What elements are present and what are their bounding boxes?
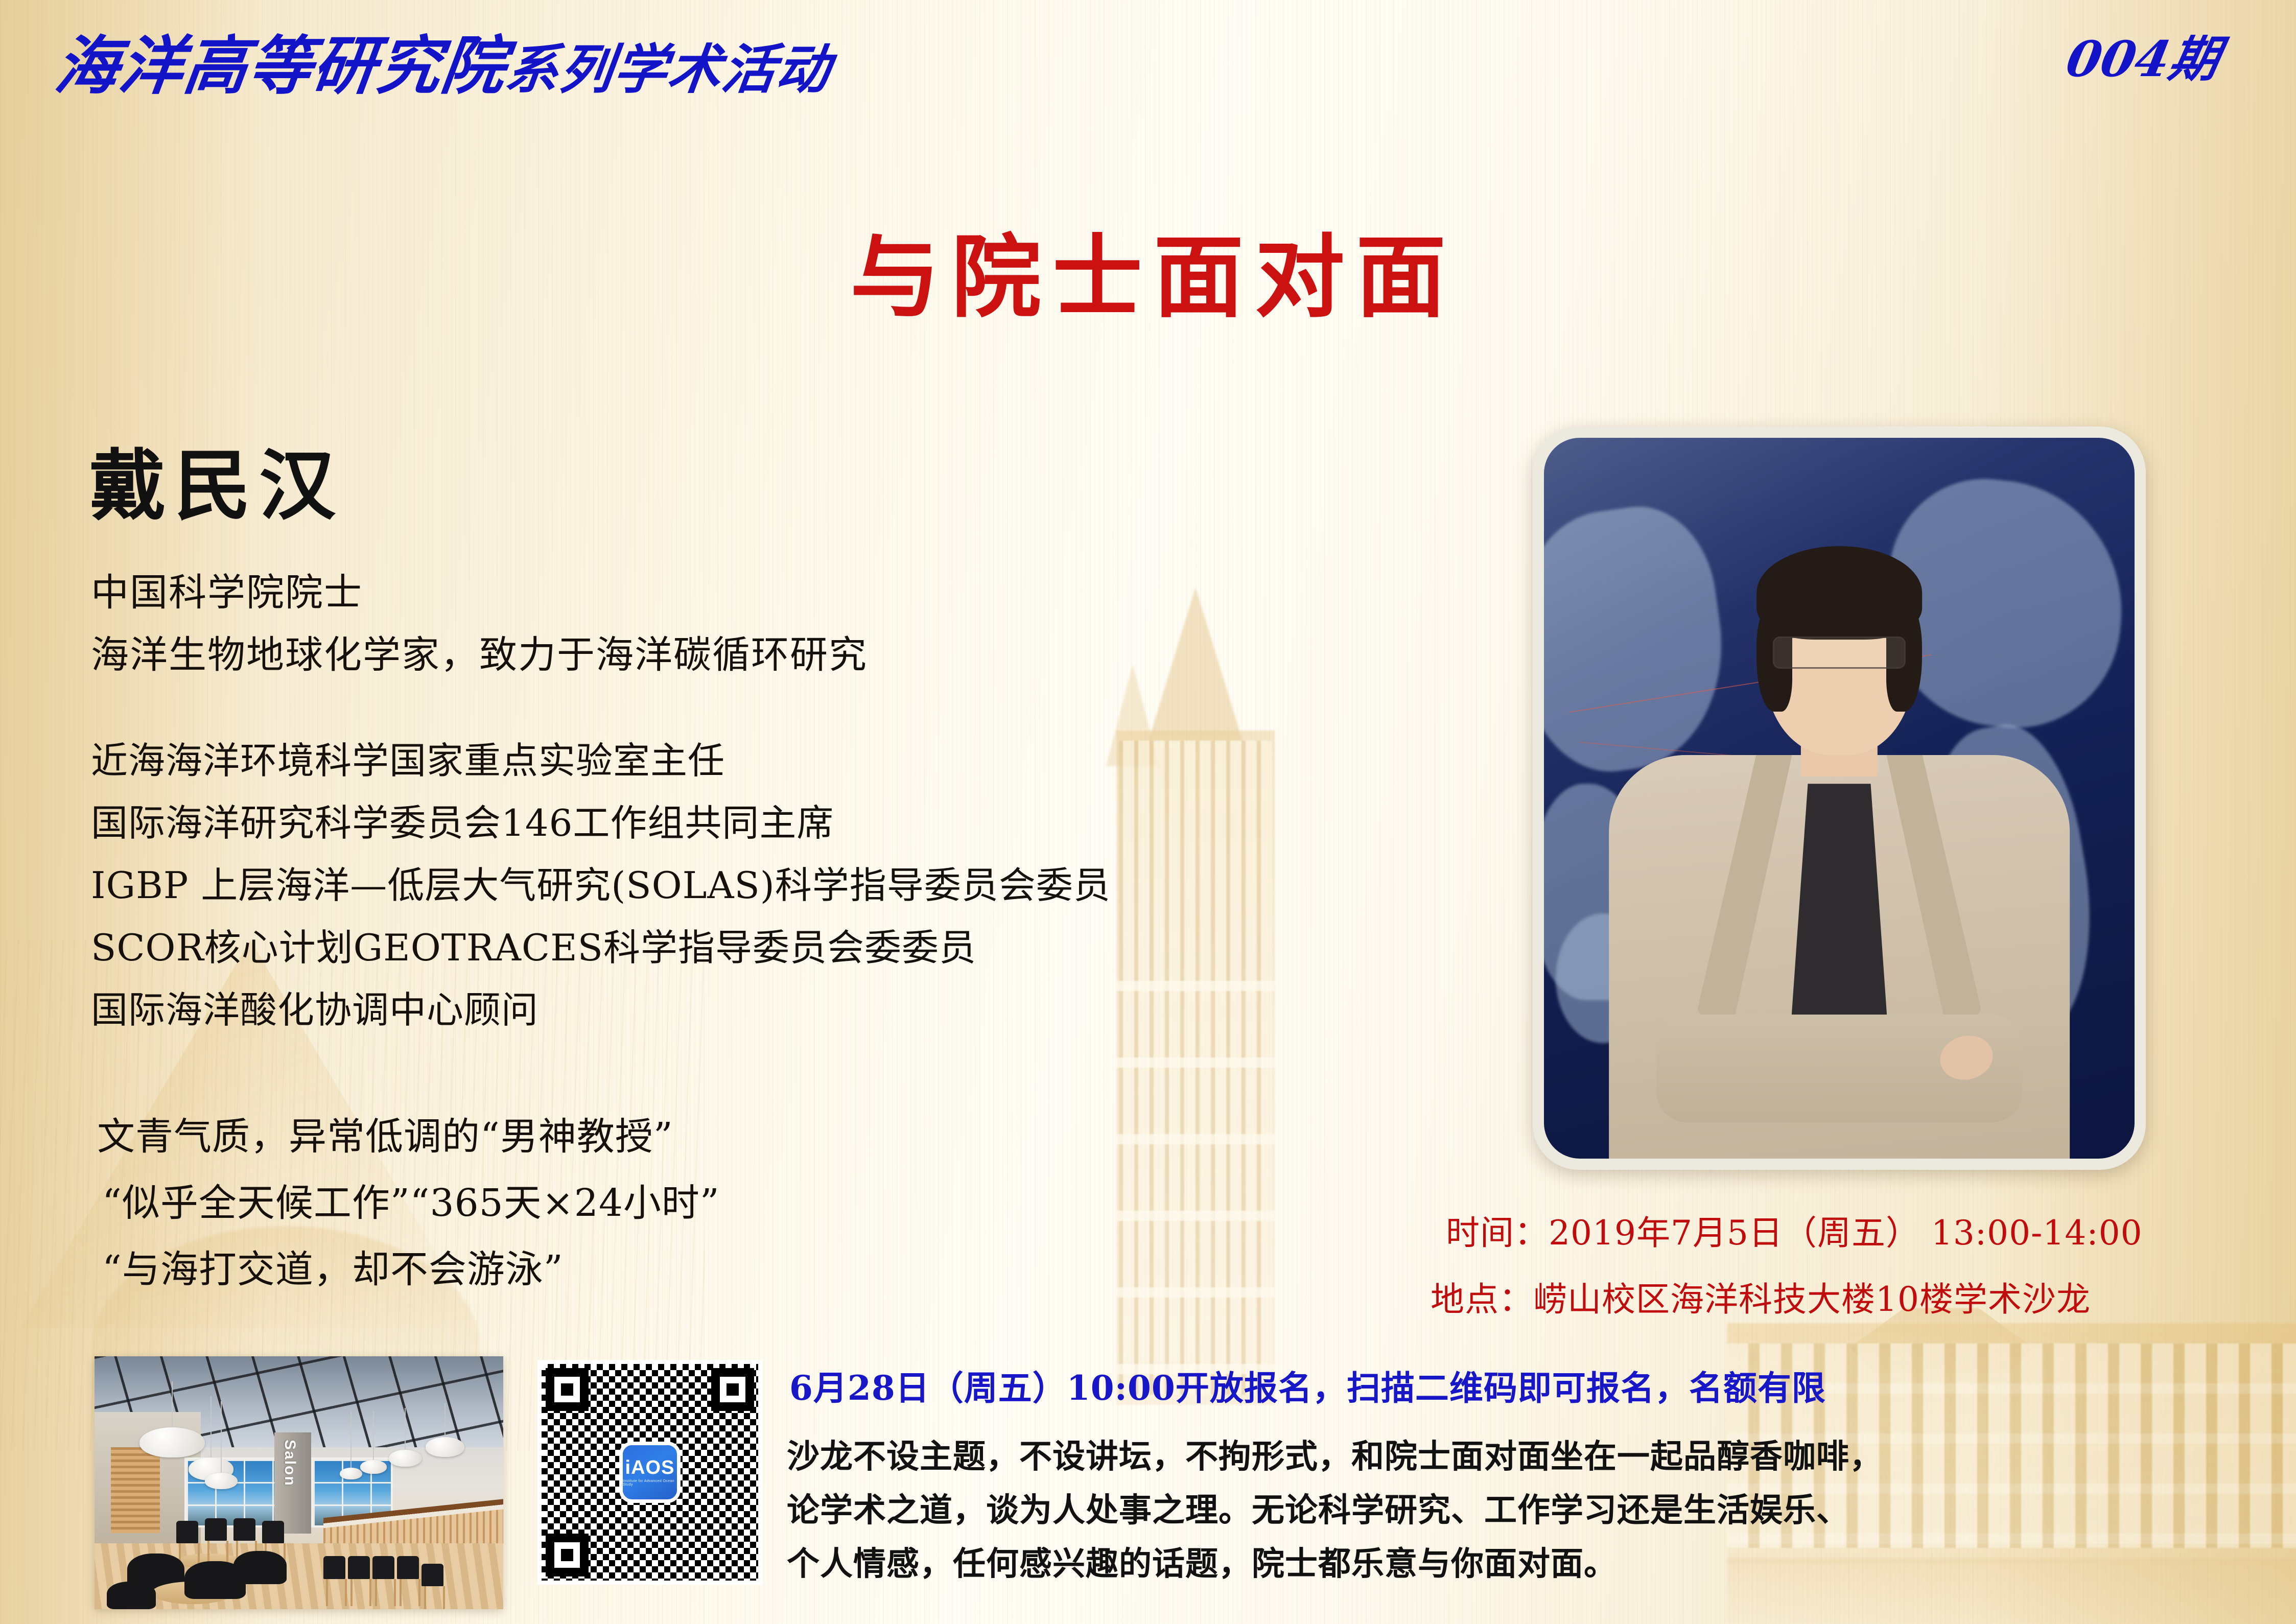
credential-item: 国际海洋酸化协调中心顾问 <box>91 980 538 1033</box>
pendant-lamp <box>389 1450 421 1467</box>
speaker-quote: 文青气质，异常低调的“男神教授” <box>97 1106 673 1161</box>
series-title-bold: 海洋高等研究院 <box>51 29 511 103</box>
registration-qr-code[interactable]: iAOS Institute for Advanced Ocean Study <box>537 1360 762 1585</box>
salon-bar-stool <box>176 1521 198 1544</box>
salon-description-line: 个人情感，任何感兴趣的话题，院士都乐意与你面对面。 <box>787 1538 1617 1585</box>
qr-finder-pattern <box>546 1534 589 1576</box>
pendant-lamp <box>340 1468 362 1479</box>
qr-module-grid: iAOS Institute for Advanced Ocean Study <box>542 1364 758 1581</box>
salon-bar-stool <box>262 1521 284 1544</box>
iaos-logo-mark: iAOS <box>625 1458 675 1477</box>
poster-root: 海洋高等研究院系列学术活动 004期 与院士面对面 戴民汉 中国科学院院士 海洋… <box>0 0 2296 1624</box>
qr-finder-pattern <box>711 1368 754 1411</box>
salon-description-line: 沙龙不设主题，不设讲坛，不拘形式，和院士面对面坐在一起品醇香咖啡， <box>787 1430 1883 1477</box>
figure-glasses <box>1773 637 1906 668</box>
qr-finder-pattern <box>546 1368 589 1411</box>
salon-bar-stool <box>323 1556 345 1579</box>
credential-item: IGBP 上层海洋—低层大气研究(SOLAS)科学指导委员会委员 <box>91 855 1111 909</box>
event-location: 地点：崂山校区海洋科技大楼10楼学术沙龙 <box>1431 1272 2091 1321</box>
event-time: 时间：2019年7月5日（周五） 13:00-14:00 <box>1446 1206 2143 1255</box>
salon-description-line: 论学术之道，谈为人处事之理。无论科学研究、工作学习还是生活娱乐、 <box>787 1484 1849 1531</box>
salon-bar-stool <box>348 1556 370 1579</box>
salon-bar-stool <box>421 1564 443 1587</box>
iaos-logo-subtitle: Institute for Advanced Ocean Study <box>623 1479 677 1487</box>
pendant-lamp <box>426 1437 464 1457</box>
salon-wood-shelf <box>111 1447 160 1533</box>
salon-chair <box>107 1582 156 1609</box>
credential-item: 近海海洋环境科学国家重点实验室主任 <box>91 731 725 784</box>
page-title: 与院士面对面 <box>0 204 2296 335</box>
salon-bar-stool <box>205 1518 227 1541</box>
series-title: 海洋高等研究院系列学术活动 <box>51 14 837 106</box>
salon-wall-signage: Salon <box>281 1440 298 1487</box>
pendant-lamp <box>205 1473 238 1489</box>
salon-bar-stool <box>233 1518 255 1541</box>
salon-bar-stool <box>372 1556 394 1579</box>
salon-chair <box>184 1561 246 1599</box>
issue-number: 004期 <box>2061 19 2226 90</box>
credential-item: 国际海洋研究科学委员会146工作组共同主席 <box>91 793 834 846</box>
iaos-logo-icon: iAOS Institute for Advanced Ocean Study <box>623 1445 677 1499</box>
pendant-lamp <box>360 1460 387 1474</box>
salon-venue-photo: Salon <box>95 1356 503 1609</box>
salon-bar-stool <box>397 1556 419 1579</box>
speaker-bio-line: 中国科学院院士 <box>91 562 363 617</box>
series-title-rest: 系列学术活动 <box>502 38 834 101</box>
speaker-name: 戴民汉 <box>89 424 344 535</box>
speaker-bio-line: 海洋生物地球化学家，致力于海洋碳循环研究 <box>91 624 868 679</box>
speaker-quote: “似乎全天候工作”“365天×24小时” <box>102 1172 720 1227</box>
speaker-quote: “与海打交道，却不会游泳” <box>102 1239 564 1293</box>
pendant-lamp <box>139 1427 205 1457</box>
credential-item: SCOR核心计划GEOTRACES科学指导委员会委委员 <box>91 917 976 971</box>
speaker-portrait-photo <box>1544 438 2135 1159</box>
registration-notice: 6月28日（周五）10:00开放报名，扫描二维码即可报名，名额有限 <box>789 1361 1826 1410</box>
speaker-portrait-frame <box>1533 427 2146 1170</box>
